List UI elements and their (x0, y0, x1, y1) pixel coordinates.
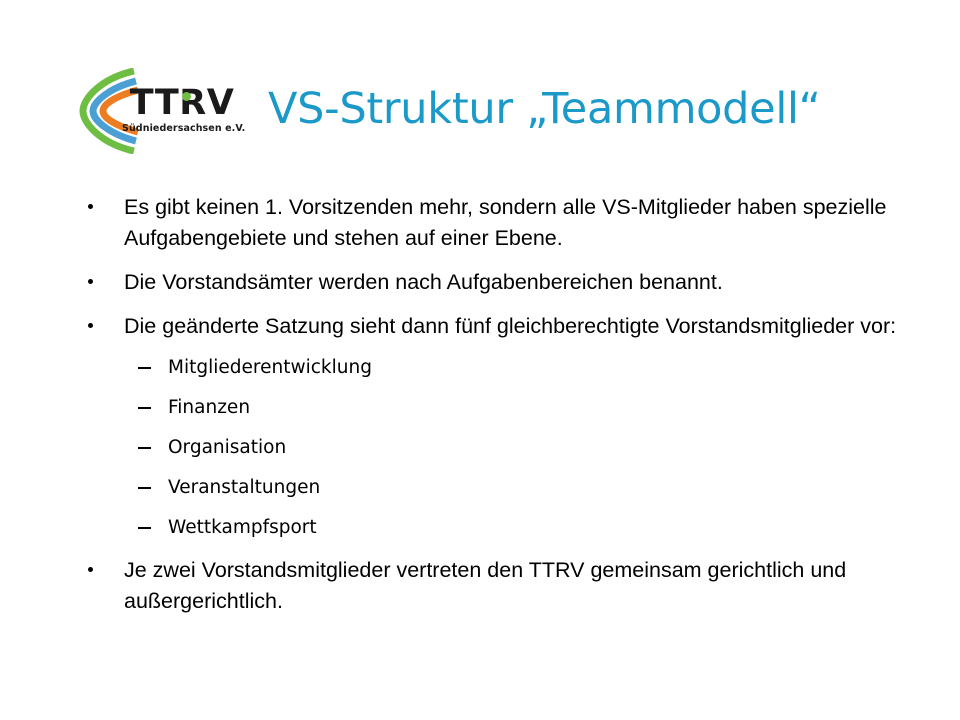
dash-marker-icon (138, 487, 151, 489)
sub-bullet-text: Finanzen (168, 395, 902, 421)
dash-marker-icon (138, 407, 151, 409)
ttrv-logo: TTRV Südniedersachsen e.V. (78, 68, 238, 154)
bullet-marker-icon (88, 204, 93, 209)
bullet-marker-icon (88, 279, 93, 284)
bullet-text: Die Vorstandsämter werden nach Aufgabenb… (124, 267, 902, 298)
sub-bullet-item: Finanzen (0, 395, 960, 421)
logo-tagline: Südniedersachsen e.V. (122, 123, 242, 134)
dash-marker-icon (138, 367, 151, 369)
sub-bullet-item: Veranstaltungen (0, 475, 960, 501)
sub-bullet-item: Organisation (0, 435, 960, 461)
bullet-marker-icon (88, 567, 93, 572)
logo-wordmark: TTRV Südniedersachsen e.V. (122, 84, 242, 134)
slide-title: VS-Struktur „Teammodell“ (268, 82, 948, 136)
bullet-text: Je zwei Vorstandsmitglieder vertreten de… (124, 555, 902, 617)
bullet-text: Es gibt keinen 1. Vorsitzenden mehr, son… (124, 192, 902, 254)
bullet-text: Die geänderte Satzung sieht dann fünf gl… (124, 311, 902, 342)
sub-bullet-text: Mitgliederentwicklung (168, 355, 902, 381)
logo-name: TTRV (122, 84, 242, 122)
bullet-item: Die Vorstandsämter werden nach Aufgabenb… (0, 267, 960, 298)
sub-bullet-list: Mitgliederentwicklung Finanzen Organisat… (0, 355, 960, 541)
sub-bullet-text: Wettkampfsport (168, 515, 902, 541)
slide-header: TTRV Südniedersachsen e.V. VS-Struktur „… (0, 0, 960, 180)
logo-dot-icon (182, 92, 191, 101)
sub-bullet-item: Mitgliederentwicklung (0, 355, 960, 381)
slide-body: Es gibt keinen 1. Vorsitzenden mehr, son… (0, 192, 960, 630)
dash-marker-icon (138, 527, 151, 529)
sub-bullet-text: Veranstaltungen (168, 475, 902, 501)
bullet-item: Die geänderte Satzung sieht dann fünf gl… (0, 311, 960, 342)
sub-bullet-text: Organisation (168, 435, 902, 461)
dash-marker-icon (138, 447, 151, 449)
bullet-item: Je zwei Vorstandsmitglieder vertreten de… (0, 555, 960, 617)
sub-bullet-item: Wettkampfsport (0, 515, 960, 541)
bullet-marker-icon (88, 323, 93, 328)
bullet-item: Es gibt keinen 1. Vorsitzenden mehr, son… (0, 192, 960, 254)
